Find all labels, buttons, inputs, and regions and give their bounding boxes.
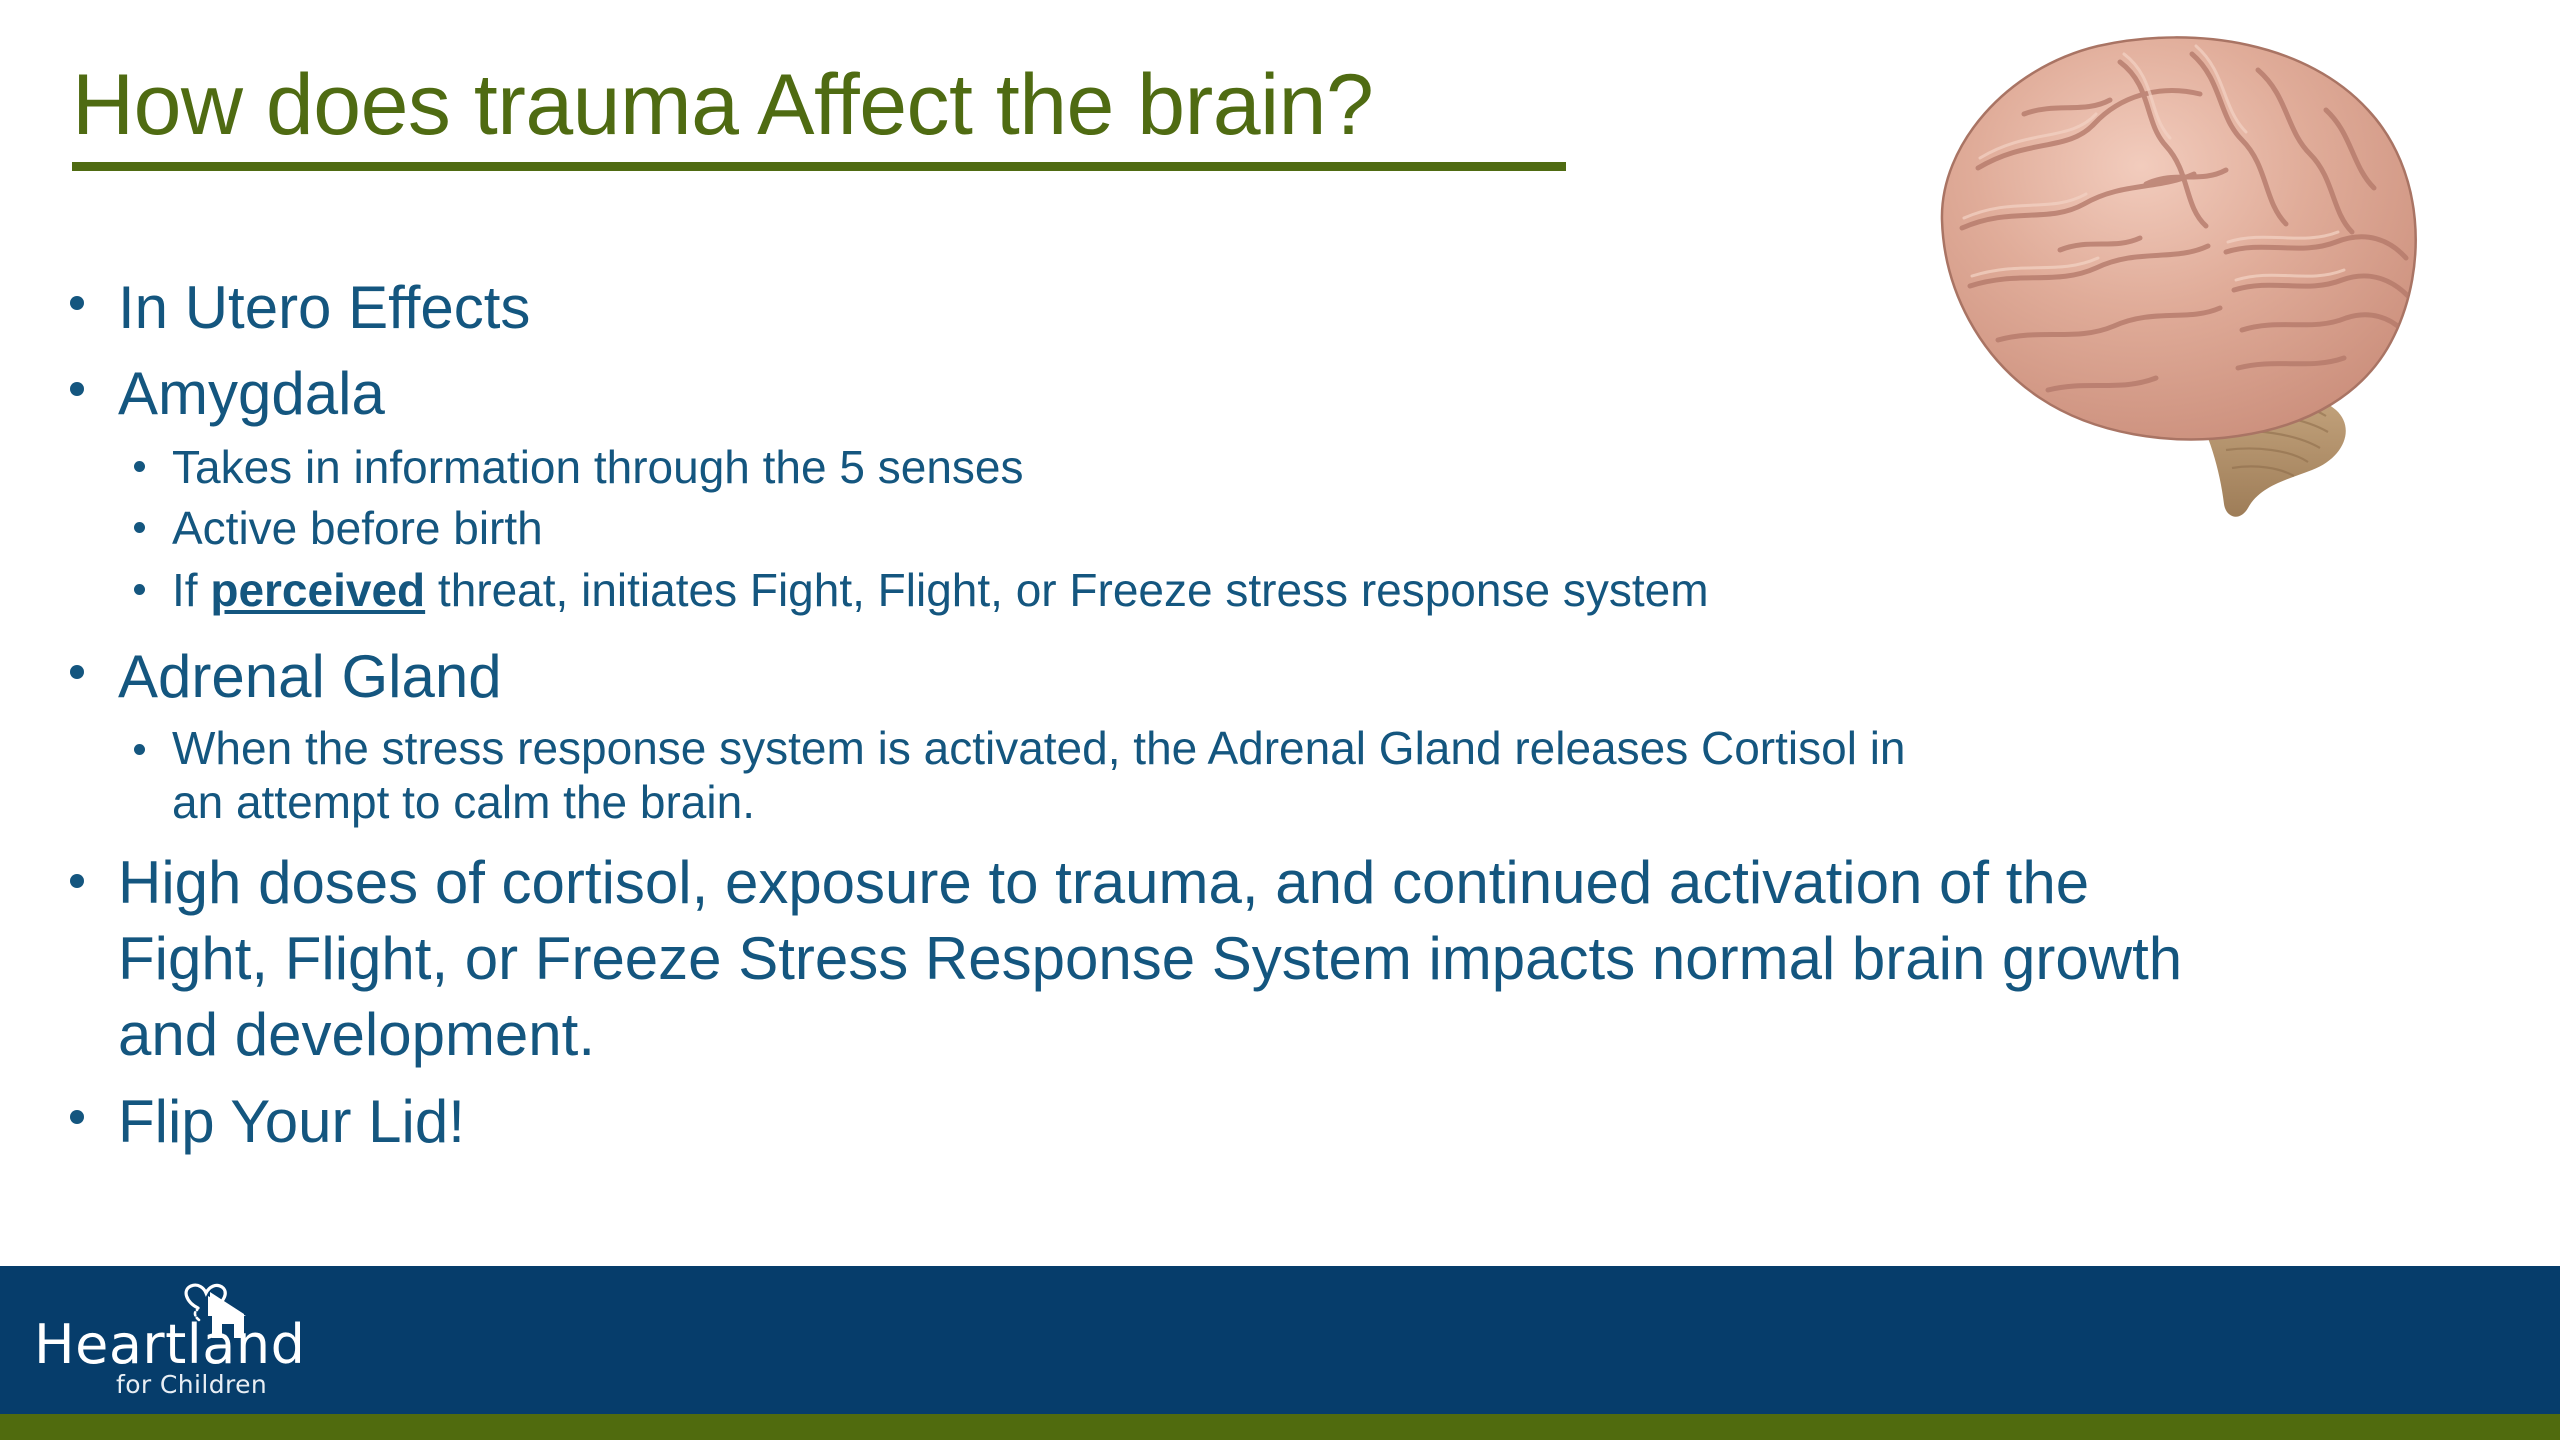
bullet-dot-icon [134,744,145,755]
list-item-label: Active before birth [172,502,543,554]
bullet-dot-icon [134,522,145,533]
bullet-dot-icon [70,1110,84,1124]
slide-canvas: How does trauma Affect the brain? In Ute… [0,0,2560,1440]
list-item-label: Adrenal Gland [118,643,502,710]
list-item-label: Amygdala [118,360,385,427]
footer-bar [0,1266,2560,1414]
list-item-cortisol-release: When the stress response system is activ… [62,721,1922,830]
list-item-perceived-threat: If perceived threat, initiates Fight, Fl… [62,561,2352,621]
page-title: How does trauma Affect the brain? [72,62,1672,150]
bullet-dot-icon [70,296,84,310]
list-item-label: Takes in information through the 5 sense… [172,441,1024,493]
heartland-logo: Heartland for Children [30,1282,320,1400]
emphasized-word-perceived: perceived [210,564,425,616]
list-item-text-prefix: If [172,564,210,616]
footer-accent-strip [0,1414,2560,1440]
title-underline-rule [72,162,1566,171]
bullet-dot-icon [70,665,84,679]
bullet-dot-icon [70,382,84,396]
logo-wordmark: Heartland [34,1318,305,1372]
list-item-label: Flip Your Lid! [118,1088,465,1155]
list-item-adrenal-gland: Adrenal Gland [62,637,2352,717]
bullet-dot-icon [134,461,145,472]
logo-tagline: for Children [116,1372,267,1397]
list-item-text-suffix: threat, initiates Fight, Flight, or Free… [425,564,1708,616]
bullet-dot-icon [134,584,145,595]
brain-image [1908,18,2448,548]
bullet-dot-icon [70,874,84,888]
list-item-label: High doses of cortisol, exposure to trau… [118,849,2182,1067]
list-item-label: When the stress response system is activ… [172,722,1906,828]
adrenal-gland-sublist: When the stress response system is activ… [62,721,2352,830]
list-item-high-doses-of-cortisol: High doses of cortisol, exposure to trau… [62,845,2208,1072]
title-block: How does trauma Affect the brain? [72,62,1672,171]
list-item-flip-your-lid: Flip Your Lid! [62,1082,2352,1162]
list-item-label: In Utero Effects [118,274,530,341]
